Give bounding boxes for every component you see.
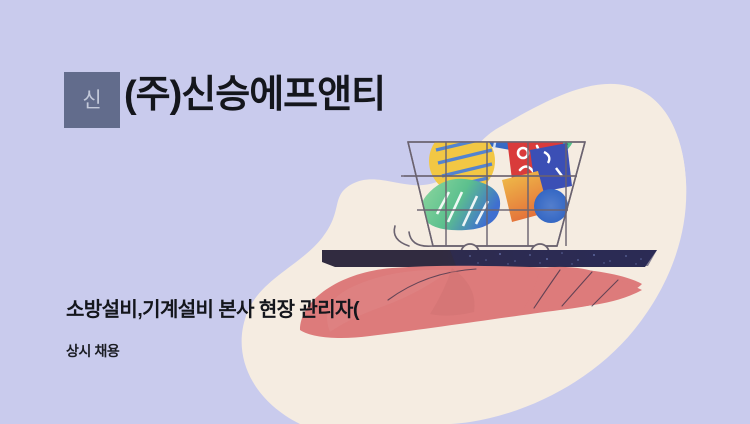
gift-blue-circle: [534, 189, 568, 223]
gift-blue-speckle-box: [530, 143, 572, 193]
platform-bar: [322, 250, 657, 267]
gift-green-blue-blob: [421, 179, 500, 231]
gift-red-orange-chunk: [418, 98, 452, 142]
company-logo-text: 신: [82, 90, 101, 111]
job-title: 소방설비,기계설비 본사 현장 관리자(: [66, 293, 359, 322]
gift-blue-hexagon: [438, 104, 474, 148]
cart-grid-lines: [401, 142, 585, 246]
gift-orange-square: [502, 171, 549, 222]
gift-yellow-striped-circle: [429, 128, 495, 194]
job-posting-banner: 신 (주)신승에프앤티 소방설비,기계설비 본사 현장 관리자( 상시 채용: [0, 0, 750, 424]
cart-handle: [394, 226, 557, 246]
shopping-cart: [408, 142, 585, 246]
job-subtitle: 상시 채용: [66, 341, 119, 361]
cart-wheels: [461, 244, 549, 255]
cream-blob: [242, 84, 687, 424]
gift-green-striped-circle: [527, 108, 575, 156]
gift-items: [418, 81, 575, 230]
gift-red-squiggle-box: [507, 130, 566, 188]
company-logo-badge[interactable]: 신: [64, 72, 120, 128]
company-name: (주)신승에프앤티: [124, 70, 385, 121]
gift-blue-box-ribbon: [466, 81, 545, 159]
